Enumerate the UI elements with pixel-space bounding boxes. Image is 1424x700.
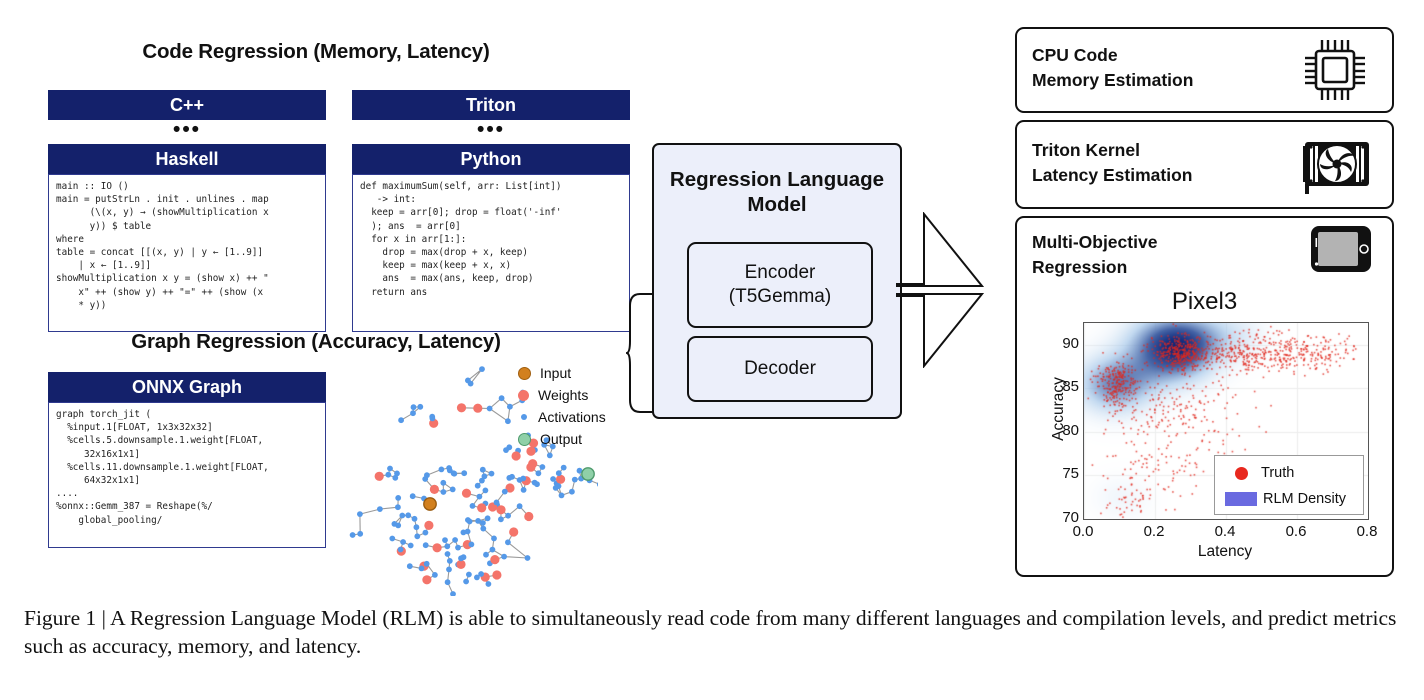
activation-node	[556, 470, 562, 476]
figure-caption: Figure 1 | A Regression Language Model (…	[24, 604, 1404, 661]
weight-node	[477, 503, 486, 512]
activation-node	[478, 571, 484, 577]
activation-node	[450, 487, 456, 493]
plot-title: Pixel3	[1017, 288, 1392, 316]
encoder-label-line1: Encoder	[745, 261, 816, 285]
activation-node	[480, 467, 486, 473]
code-card-cpp: C++ •••	[48, 90, 326, 144]
plot-xtick: 0.0	[1063, 523, 1103, 540]
activation-node	[509, 474, 515, 480]
activation-node	[377, 506, 383, 512]
weight-node	[473, 404, 482, 413]
code-card-onnx-body: graph torch_jit ( %input.1[FLOAT, 1x3x32…	[48, 402, 326, 548]
plot-legend-item-truth: Truth	[1221, 460, 1357, 486]
code-card-triton-header: Triton	[352, 90, 630, 120]
plot-ytick: 75	[1062, 465, 1079, 482]
weight-node	[496, 505, 505, 514]
figure-caption-text: A Regression Language Model (RLM) is abl…	[24, 606, 1396, 658]
output-node-swatch	[518, 433, 531, 446]
activation-node	[536, 470, 542, 476]
activation-node	[461, 530, 467, 536]
activation-node	[559, 493, 565, 499]
activation-node	[395, 523, 401, 529]
activation-node	[483, 488, 489, 494]
code-regression-title: Code Regression (Memory, Latency)	[76, 40, 556, 64]
output-panel-cpu-line1: CPU Code	[1032, 43, 1193, 68]
activation-node	[444, 543, 450, 549]
activation-node	[430, 416, 436, 422]
output-panel-triton-line2: Latency Estimation	[1032, 163, 1192, 188]
code-card-python: Python def maximumSum(self, arr: List[in…	[352, 144, 630, 332]
activation-node	[400, 539, 406, 545]
activation-node	[475, 518, 481, 524]
activation-node	[440, 480, 446, 486]
activation-node	[423, 542, 429, 548]
output-panel-cpu-line2: Memory Estimation	[1032, 68, 1193, 93]
activation-node	[350, 532, 356, 538]
activation-node	[572, 477, 578, 483]
decoder-block[interactable]: Decoder	[687, 336, 873, 402]
activation-node	[423, 530, 429, 536]
plot-ytick: 80	[1062, 422, 1079, 439]
activation-node	[556, 483, 562, 489]
activation-node	[517, 503, 523, 509]
rlm-title-text: Regression Language Model	[670, 168, 884, 216]
input-node	[424, 498, 436, 510]
activation-node	[432, 572, 438, 578]
activation-node	[455, 545, 461, 551]
activation-node	[445, 579, 451, 585]
code-card-python-body: def maximumSum(self, arr: List[int]) -> …	[352, 174, 630, 332]
activation-node	[505, 418, 511, 424]
code-card-cpp-header: C++	[48, 90, 326, 120]
activation-node	[489, 471, 495, 477]
activation-node	[501, 554, 507, 560]
density-patch-swatch	[1225, 492, 1257, 506]
activations-node-swatch	[521, 414, 527, 420]
activation-node	[410, 410, 416, 416]
output-panel-multi-line2: Regression	[1032, 255, 1157, 280]
activation-node	[411, 404, 417, 410]
activation-node	[547, 453, 553, 459]
output-panel-multi-line1: Multi-Objective	[1032, 230, 1157, 255]
activation-node	[461, 470, 467, 476]
plot-ytick: 90	[1062, 335, 1079, 352]
graph-legend-label-output: Output	[540, 431, 582, 447]
output-node	[582, 468, 594, 480]
activation-node	[446, 567, 452, 573]
weight-node	[490, 555, 499, 564]
weight-node	[526, 463, 535, 472]
activation-node	[408, 543, 414, 549]
weight-node	[556, 475, 565, 484]
plot-xtick: 0.4	[1205, 523, 1245, 540]
graph-legend-item-output: Output	[518, 428, 638, 450]
activation-node	[398, 547, 404, 553]
activation-node	[447, 468, 453, 474]
activation-node	[486, 581, 492, 587]
activation-node	[442, 537, 448, 543]
activation-node	[414, 524, 420, 530]
activation-node	[445, 551, 451, 557]
activation-node	[521, 487, 527, 493]
output-panel-triton-title: Triton Kernel Latency Estimation	[1032, 138, 1192, 189]
phone-icon	[1307, 224, 1375, 276]
activation-node	[525, 555, 531, 561]
encoder-label-line2: (T5Gemma)	[729, 285, 831, 309]
weight-node	[524, 512, 533, 521]
activation-node	[485, 515, 491, 521]
activation-node	[494, 500, 500, 506]
plot-xticks: 0.00.20.40.60.8	[1083, 521, 1367, 541]
activation-node	[414, 533, 420, 539]
activation-node	[395, 495, 401, 501]
activation-node	[458, 555, 464, 561]
plot-xtick: 0.2	[1134, 523, 1174, 540]
graph-regression-title: Graph Regression (Accuracy, Latency)	[56, 330, 576, 354]
weight-node	[512, 451, 521, 460]
graph-legend-label-weights: Weights	[538, 387, 588, 403]
activation-node	[447, 558, 453, 564]
activation-node	[498, 516, 504, 522]
activation-node	[424, 561, 430, 567]
code-card-onnx: ONNX Graph graph torch_jit ( %input.1[FL…	[48, 372, 326, 548]
activation-node	[477, 494, 483, 500]
activation-node	[452, 537, 458, 543]
activation-node	[469, 542, 475, 548]
activation-node	[550, 476, 556, 482]
activation-node	[450, 591, 456, 596]
activation-node	[479, 478, 485, 484]
graph-legend-item-activations: Activations	[518, 406, 638, 428]
weight-node	[375, 472, 384, 481]
activation-node	[483, 552, 489, 558]
plot-area: Truth RLM Density	[1083, 322, 1369, 520]
activation-node	[503, 447, 509, 453]
activation-node	[507, 404, 513, 410]
activation-node	[479, 366, 485, 372]
activation-node	[385, 472, 391, 478]
activation-node	[417, 404, 423, 410]
activation-node	[468, 381, 474, 387]
decoder-label: Decoder	[744, 357, 816, 381]
activation-node	[487, 406, 493, 412]
weight-node	[457, 403, 466, 412]
activation-node	[389, 536, 395, 542]
weights-node-swatch	[518, 390, 529, 401]
activation-node	[399, 513, 405, 519]
weight-node	[422, 575, 431, 584]
activation-node	[499, 395, 505, 401]
graph-legend-label-input: Input	[540, 365, 571, 381]
encoder-output-arrow	[896, 212, 984, 290]
activation-node	[398, 417, 404, 423]
output-panel-multi: Multi-Objective Regression Pixel3 Accura…	[1015, 216, 1394, 577]
activation-node	[422, 476, 428, 482]
code-card-python-header: Python	[352, 144, 630, 174]
activation-node	[534, 481, 540, 487]
plot-legend-item-density: RLM Density	[1221, 486, 1357, 512]
rlm-box: Regression Language Model Encoder (T5Gem…	[652, 143, 902, 419]
activation-node	[465, 517, 471, 523]
weight-node	[462, 489, 471, 498]
rlm-title: Regression Language Model	[654, 145, 900, 217]
activation-node	[463, 579, 469, 585]
encoder-block[interactable]: Encoder (T5Gemma)	[687, 242, 873, 328]
input-node-swatch	[518, 367, 531, 380]
code-card-haskell-body: main :: IO () main = putStrLn . init . u…	[48, 174, 326, 332]
code-card-triton-ellipsis: •••	[352, 120, 630, 144]
figure-caption-prefix: Figure 1 |	[24, 606, 106, 630]
activation-node	[405, 512, 411, 518]
cpu-chip-icon	[1299, 35, 1371, 105]
activation-node	[357, 531, 363, 537]
activation-node	[540, 464, 546, 470]
plot-legend-label-density: RLM Density	[1263, 491, 1346, 507]
activation-node	[505, 513, 511, 519]
decoder-output-arrow	[896, 290, 984, 368]
weight-node	[509, 527, 518, 536]
weight-node	[424, 521, 433, 530]
graph-legend-label-activations: Activations	[538, 409, 606, 425]
output-panel-cpu: CPU Code Memory Estimation	[1015, 27, 1394, 113]
graph-legend: Input Weights Activations Output	[518, 362, 638, 450]
activation-node	[475, 483, 481, 489]
plot-legend-label-truth: Truth	[1261, 465, 1294, 481]
code-card-cpp-ellipsis: •••	[48, 120, 326, 144]
activation-node	[490, 547, 496, 553]
plot-ytick: 85	[1062, 378, 1079, 395]
activation-node	[395, 504, 401, 510]
activation-node	[387, 466, 393, 472]
plot-legend: Truth RLM Density	[1214, 455, 1364, 515]
output-panel-triton-line1: Triton Kernel	[1032, 138, 1192, 163]
weight-node	[430, 485, 439, 494]
activation-node	[517, 477, 523, 483]
activation-node	[441, 489, 447, 495]
activation-node	[505, 539, 511, 545]
activation-node	[470, 503, 476, 509]
activation-node	[439, 467, 445, 473]
weight-node	[492, 570, 501, 579]
code-card-haskell: Haskell main :: IO () main = putStrLn . …	[48, 144, 326, 332]
code-card-haskell-header: Haskell	[48, 144, 326, 174]
activation-node	[569, 489, 575, 495]
activation-node	[502, 489, 508, 495]
plot-xtick: 0.6	[1276, 523, 1316, 540]
graph-legend-item-weights: Weights	[518, 384, 638, 406]
activation-node	[466, 572, 472, 578]
activation-node	[407, 563, 413, 569]
activation-node	[597, 482, 598, 488]
code-card-onnx-header: ONNX Graph	[48, 372, 326, 402]
activation-node	[480, 526, 486, 532]
output-panel-triton: Triton Kernel Latency Estimation	[1015, 120, 1394, 209]
graph-legend-item-input: Input	[518, 362, 638, 384]
plot-xtick: 0.8	[1347, 523, 1387, 540]
activation-node	[410, 493, 416, 499]
gpu-fan-icon	[1299, 134, 1375, 196]
weight-node	[433, 543, 442, 552]
output-panel-cpu-title: CPU Code Memory Estimation	[1032, 43, 1193, 94]
activation-node	[357, 511, 363, 517]
plot-xlabel: Latency	[1083, 543, 1367, 561]
activation-node	[394, 471, 400, 477]
activation-node	[412, 516, 418, 522]
output-panel-multi-title: Multi-Objective Regression	[1032, 230, 1157, 281]
plot-yticks: 7075808590	[1043, 318, 1079, 528]
activation-node	[491, 536, 497, 542]
truth-marker-swatch	[1235, 467, 1248, 480]
activation-node	[419, 566, 425, 572]
code-card-triton: Triton •••	[352, 90, 630, 144]
activation-node	[561, 465, 567, 471]
